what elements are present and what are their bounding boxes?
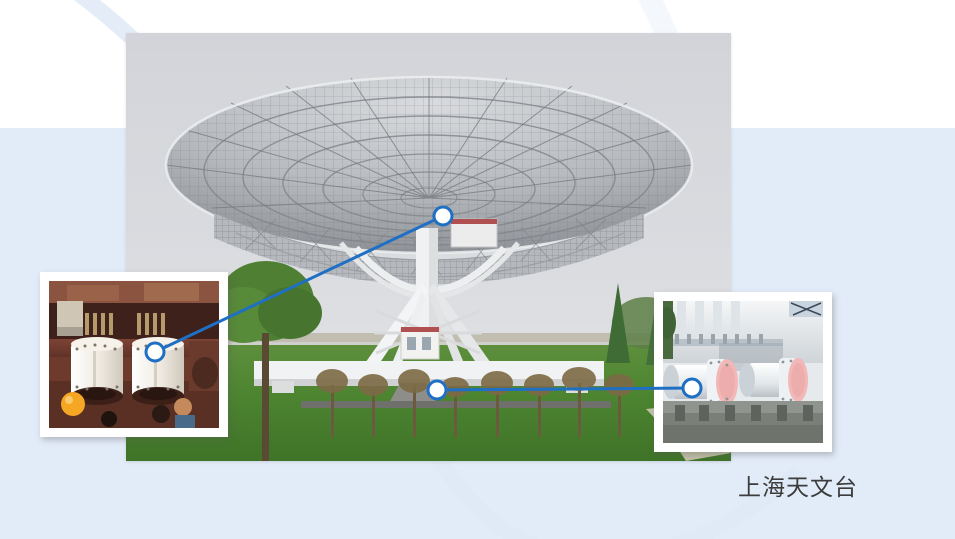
left-inset-image	[49, 281, 219, 428]
right-inset-photo[interactable]	[654, 292, 832, 452]
left-inset-photo[interactable]	[40, 272, 228, 437]
slide-caption: 上海天文台	[738, 468, 858, 502]
right-inset-image	[663, 301, 823, 443]
slide-canvas: 上海天文台	[0, 0, 955, 539]
